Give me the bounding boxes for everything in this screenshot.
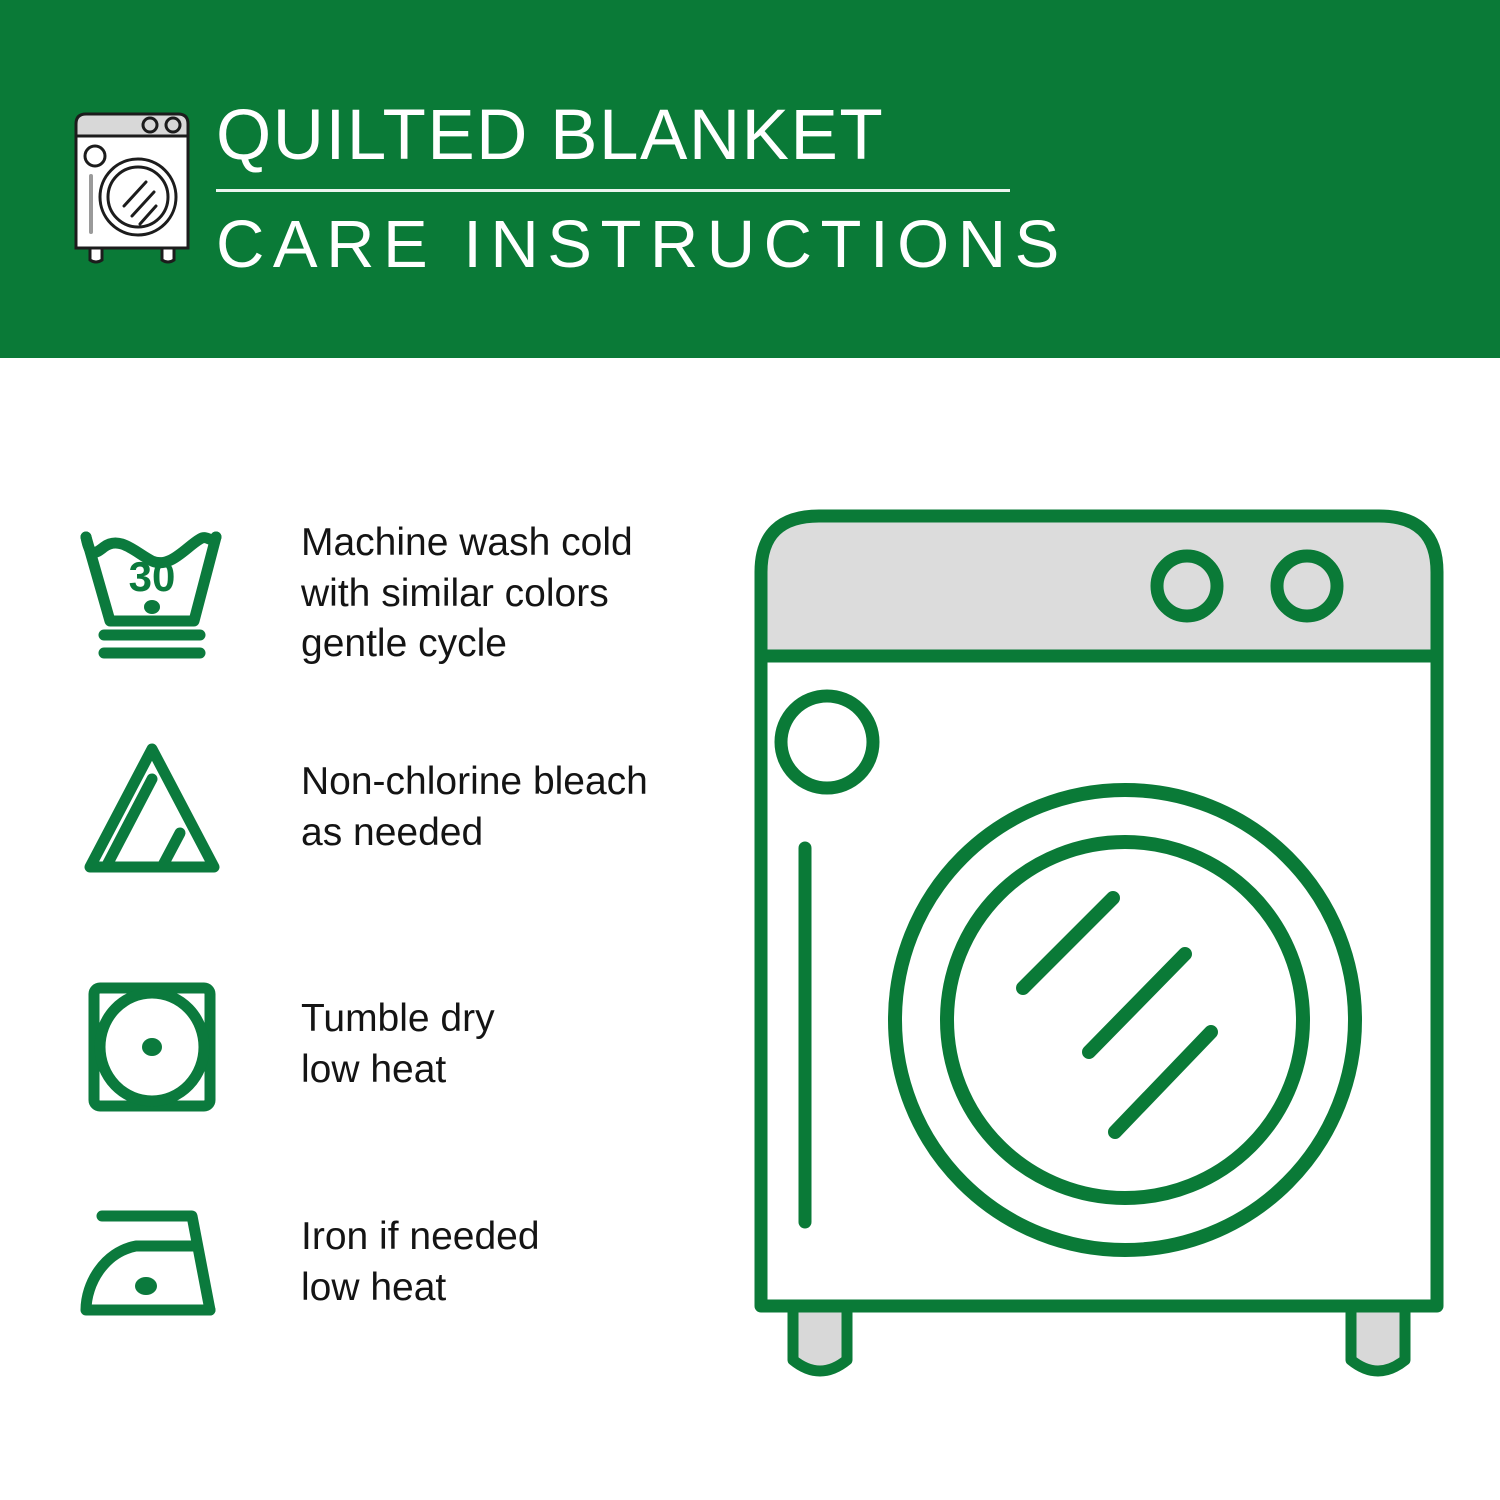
- wash-temperature-value: 30: [129, 553, 176, 600]
- care-item-label: Machine wash cold with similar colors ge…: [301, 518, 633, 670]
- washing-machine-icon: [62, 104, 202, 266]
- machine-wash-30-gentle-symbol: 30: [74, 519, 239, 669]
- care-instructions-page: QUILTED BLANKET CARE INSTRUCTIONS: [0, 0, 1500, 1500]
- care-instruction-list: 30 Machine wash cold with similar colors…: [0, 358, 740, 1500]
- machine-body: [761, 656, 1437, 1306]
- care-item-iron: Iron if needed low heat: [74, 1188, 714, 1338]
- tumble-dry-low-symbol: [74, 970, 239, 1120]
- care-item-label: Iron if needed low heat: [301, 1212, 540, 1313]
- machine-knob-right: [1277, 556, 1337, 616]
- care-item-bleach: Non-chlorine bleach as needed: [74, 733, 714, 883]
- front-load-washing-machine-illustration: [735, 480, 1465, 1430]
- care-item-label: Tumble dry low heat: [301, 994, 495, 1095]
- page-subtitle: CARE INSTRUCTIONS: [216, 211, 1036, 278]
- non-chlorine-bleach-symbol: [74, 733, 239, 883]
- header-text-block: QUILTED BLANKET CARE INSTRUCTIONS: [216, 100, 1036, 278]
- care-item-tumble-dry: Tumble dry low heat: [74, 970, 714, 1120]
- machine-knob-left: [1157, 556, 1217, 616]
- page-title: QUILTED BLANKET: [216, 100, 1036, 171]
- title-divider: [216, 189, 1010, 192]
- care-item-machine-wash: 30 Machine wash cold with similar colors…: [74, 518, 714, 670]
- iron-low-heat-symbol: [74, 1188, 239, 1338]
- header-band: QUILTED BLANKET CARE INSTRUCTIONS: [0, 0, 1500, 358]
- care-item-label: Non-chlorine bleach as needed: [301, 757, 648, 858]
